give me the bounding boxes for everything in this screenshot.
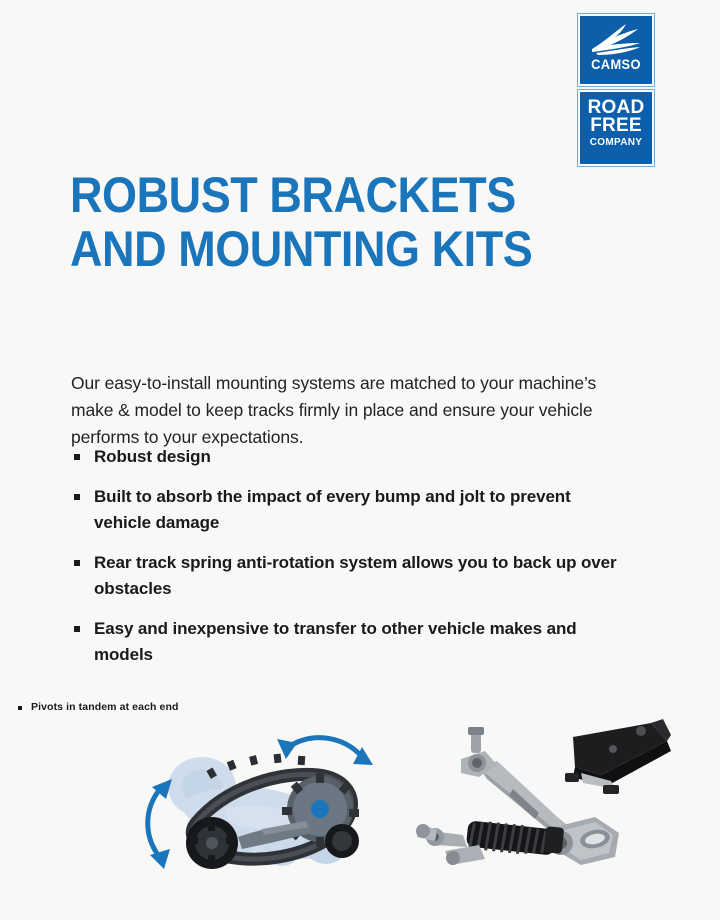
list-item-label: Easy and inexpensive to transfer to othe… [94, 616, 631, 668]
footnote-label: Pivots in tandem at each end [31, 701, 179, 713]
camso-chevron-mountain-icon [590, 22, 642, 56]
list-item: Robust design [71, 444, 631, 470]
camso-wordmark: CAMSO [583, 57, 649, 71]
top-rotation-arrow [286, 738, 362, 757]
headline-line-1: ROBUST BRACKETS [70, 168, 574, 222]
square-bullet-icon [74, 494, 80, 500]
list-item: Built to absorb the impact of every bump… [71, 484, 631, 536]
square-bullet-icon [74, 454, 80, 460]
footnote: Pivots in tandem at each end [18, 701, 179, 713]
list-item: Easy and inexpensive to transfer to othe… [71, 616, 631, 668]
brand-logo-stack: CAMSO ROAD FREE COMPANY [578, 14, 654, 166]
intro-paragraph: Our easy-to-install mounting systems are… [71, 370, 627, 451]
road-free-line-3: COMPANY [580, 138, 652, 148]
page-title: ROBUST BRACKETS AND MOUNTING KITS [70, 168, 630, 276]
headline-line-2: AND MOUNTING KITS [70, 222, 574, 276]
square-bullet-icon [74, 626, 80, 632]
mounting-hardware-photos [405, 715, 705, 890]
rubber-track-system-pivot-diagram [130, 725, 400, 890]
left-arrow-head-bottom [150, 849, 170, 869]
list-item: Rear track spring anti-rotation system a… [71, 550, 631, 602]
poster-page: CAMSO ROAD FREE COMPANY ROBUST BRACKETS … [0, 0, 720, 920]
left-rotation-arrow [148, 789, 160, 855]
square-bullet-icon [18, 706, 22, 710]
road-free-line-2: FREE [580, 117, 652, 135]
coil-spring-assembly [416, 820, 564, 865]
mounting-bracket-plate [565, 719, 671, 794]
square-bullet-icon [74, 560, 80, 566]
camso-logo-box: CAMSO [578, 14, 654, 86]
list-item-label: Robust design [94, 444, 631, 470]
feature-bullet-list: Robust design Built to absorb the impact… [71, 444, 631, 682]
road-free-company-logo-box: ROAD FREE COMPANY [578, 90, 654, 166]
list-item-label: Rear track spring anti-rotation system a… [94, 550, 631, 602]
list-item-label: Built to absorb the impact of every bump… [94, 484, 631, 536]
